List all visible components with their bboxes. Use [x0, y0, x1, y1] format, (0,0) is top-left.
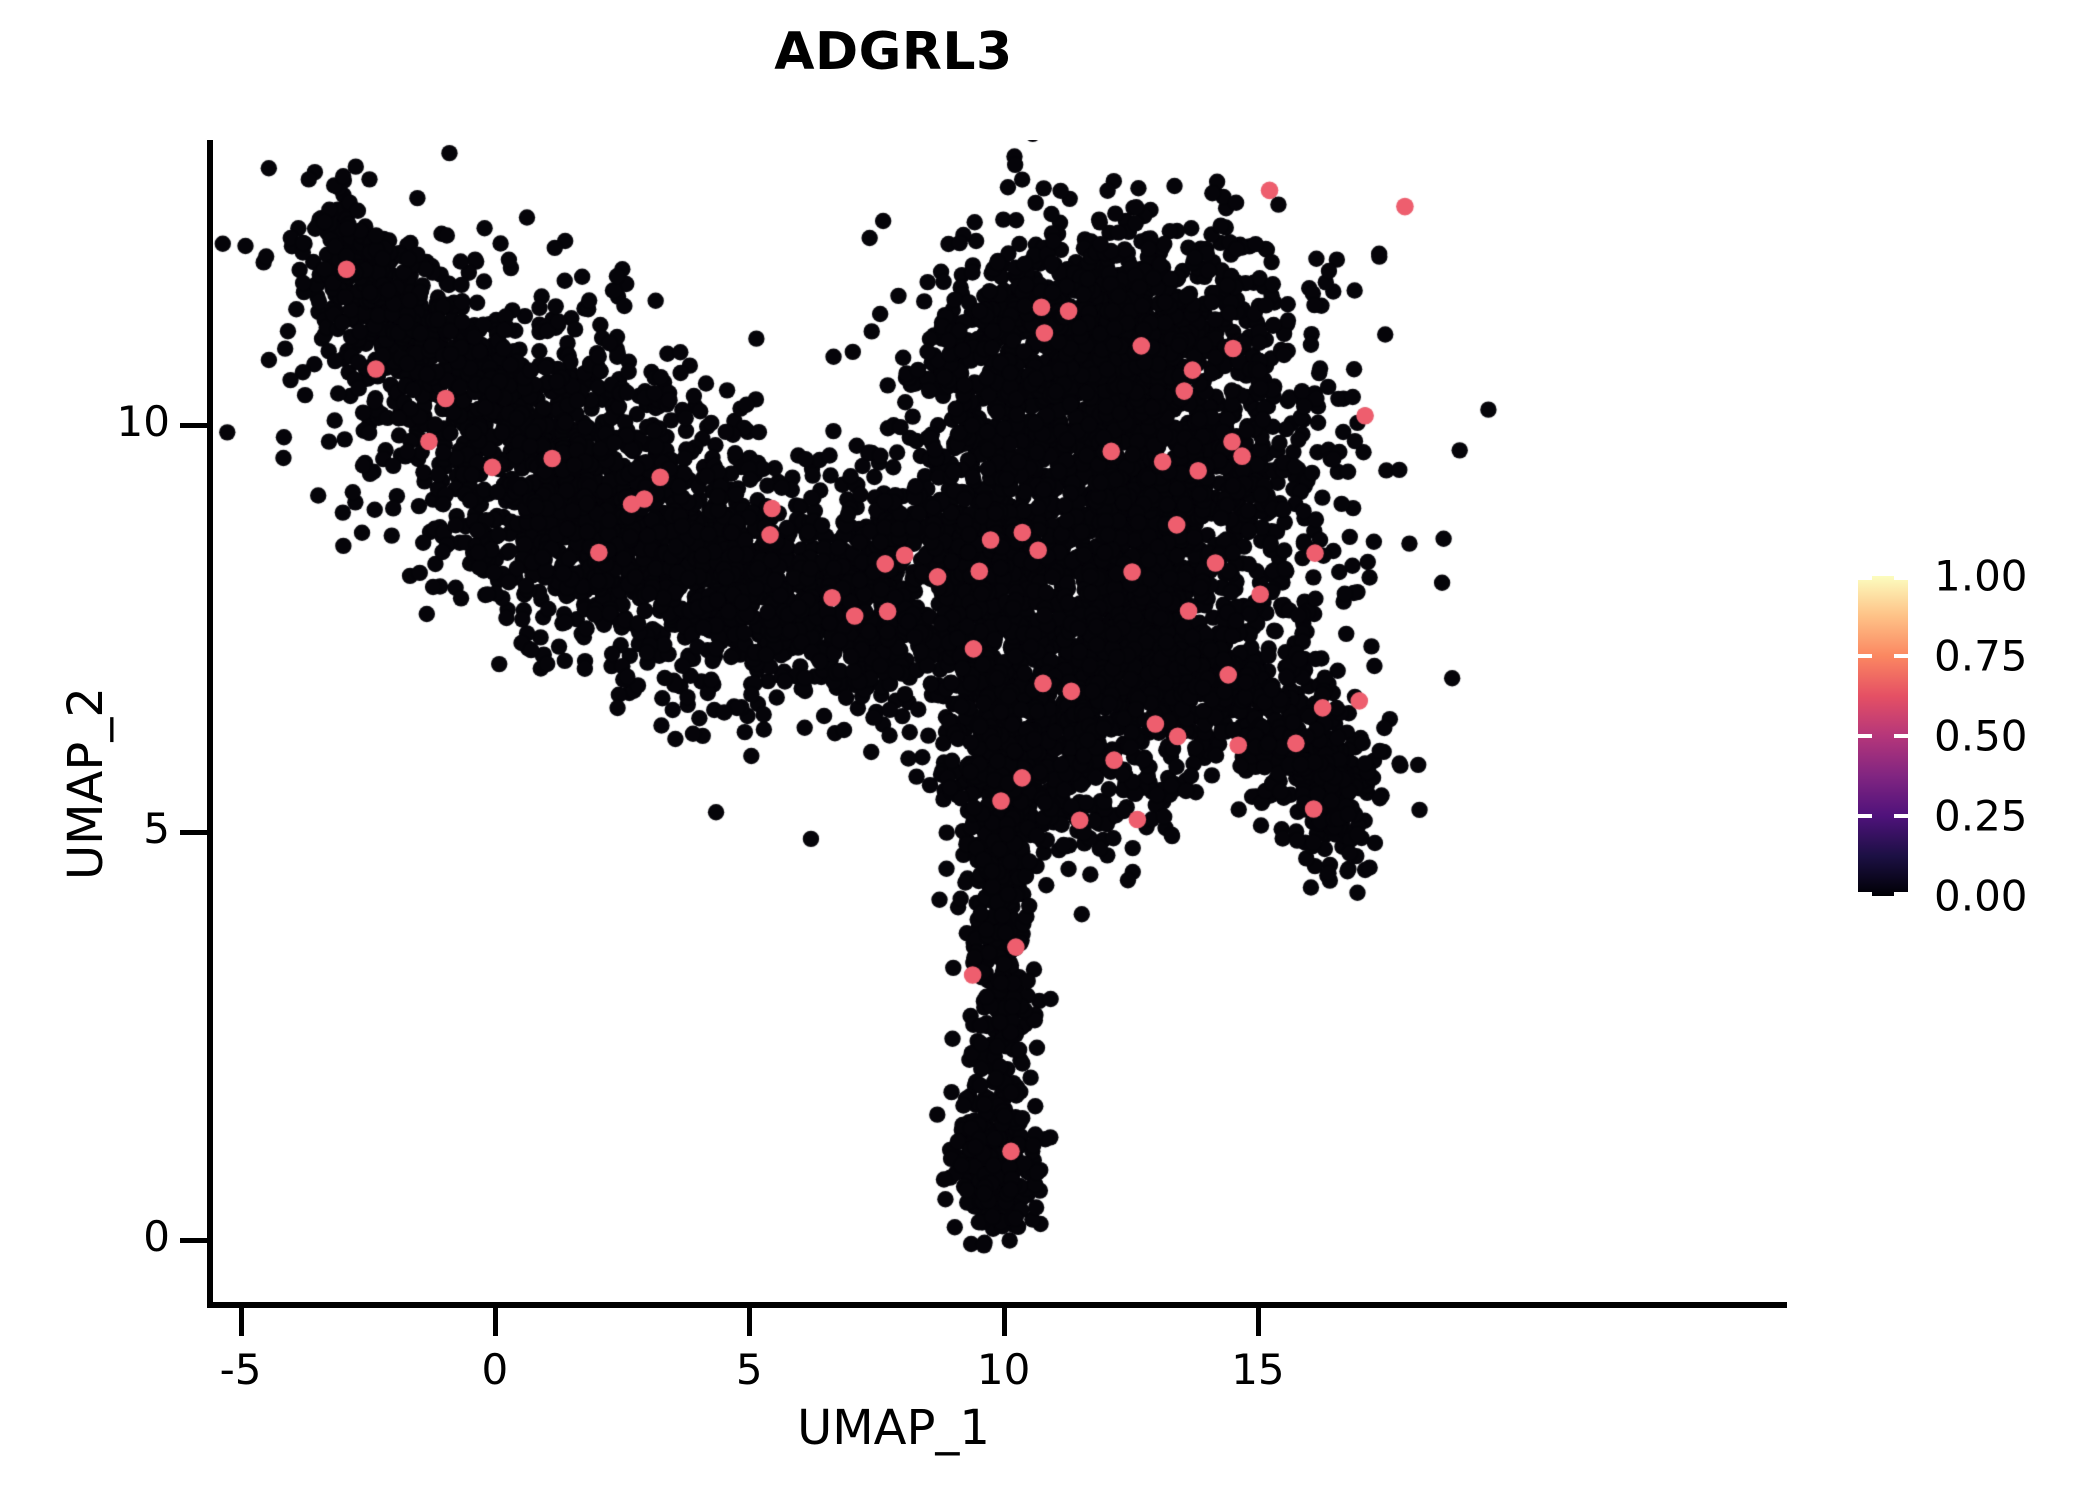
y-tick-label: 10 [60, 397, 170, 446]
y-tick-mark [180, 423, 208, 428]
colorbar-tick-label: 0.00 [1934, 872, 2028, 921]
x-tick-label: 10 [977, 1345, 1030, 1394]
colorbar-tick-mark [1858, 576, 1872, 580]
x-tick-label: 5 [736, 1345, 763, 1394]
y-tick-mark [180, 1238, 208, 1243]
colorbar-tick-mark [1858, 654, 1872, 658]
y-axis-spine [207, 140, 213, 1305]
colorbar-tick-label: 0.75 [1934, 632, 2028, 681]
colorbar-tick-label: 0.25 [1934, 792, 2028, 841]
y-tick-mark [180, 830, 208, 835]
colorbar-tick-mark [1894, 814, 1908, 818]
colorbar-tick-label: 1.00 [1934, 552, 2028, 601]
x-tick-label: 0 [482, 1345, 509, 1394]
colorbar-tick-mark [1894, 654, 1908, 658]
x-axis-spine [207, 1302, 1787, 1308]
colorbar-tick-mark [1858, 814, 1872, 818]
colorbar-tick-mark [1858, 734, 1872, 738]
x-tick-label: -5 [220, 1345, 262, 1394]
scatter-points-canvas [210, 140, 1787, 1305]
y-axis-label: UMAP_2 [58, 687, 114, 880]
scatter-plot-area [210, 140, 1787, 1305]
x-axis-label: UMAP_1 [0, 1400, 1787, 1456]
x-tick-label: 15 [1231, 1345, 1284, 1394]
colorbar-tick-mark [1894, 892, 1908, 896]
x-tick-mark [239, 1308, 244, 1336]
umap-feature-plot-figure: ADGRL3 0510 -5051015 UMAP_1 UMAP_2 0.000… [0, 0, 2100, 1500]
colorbar-tick-mark [1894, 576, 1908, 580]
colorbar-tick-label: 0.50 [1934, 712, 2028, 761]
y-tick-label: 0 [60, 1212, 170, 1261]
x-tick-mark [1256, 1308, 1261, 1336]
colorbar-tick-mark [1894, 734, 1908, 738]
page-title: ADGRL3 [0, 22, 1787, 82]
x-tick-mark [1002, 1308, 1007, 1336]
x-tick-mark [493, 1308, 498, 1336]
x-tick-mark [747, 1308, 752, 1336]
colorbar-tick-mark [1858, 892, 1872, 896]
